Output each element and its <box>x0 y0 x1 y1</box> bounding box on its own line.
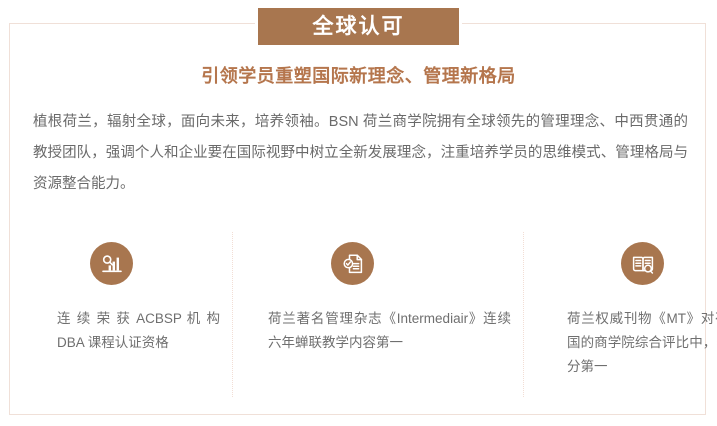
global-recognition-section: 全球认可 引领学员重塑国际新理念、管理新格局 植根荷兰，辐射全球，面向未来，培养… <box>0 0 717 426</box>
feature-item-magazine-ranking: 荷兰著名管理杂志《Intermediair》连续六年蝉联教学内容第一 <box>232 232 523 397</box>
book-search-icon <box>621 242 664 285</box>
feature-item-label: 荷兰著名管理杂志《Intermediair》连续六年蝉联教学内容第一 <box>268 307 511 355</box>
feature-item-label: 连 续 荣 获 ACBSP 机 构 DBA 课程认证资格 <box>57 307 220 355</box>
feature-item-mt-ranking: 荷兰权威刊物《MT》对荷兰全国的商学院综合评比中，获得总分第一 <box>523 232 717 397</box>
feature-list: 连 续 荣 获 ACBSP 机 构 DBA 课程认证资格 <box>10 232 706 397</box>
section-body-paragraph: 植根荷兰，辐射全球，面向未来，培养领袖。BSN 荷兰商学院拥有全球领先的管理理念… <box>33 107 688 200</box>
document-check-icon <box>331 242 374 285</box>
page-title: 全球认可 <box>313 16 405 37</box>
section-subtitle: 引领学员重塑国际新理念、管理新格局 <box>0 62 717 88</box>
chart-search-icon <box>90 242 133 285</box>
feature-item-accreditation: 连 续 荣 获 ACBSP 机 构 DBA 课程认证资格 <box>10 232 232 397</box>
feature-item-label: 荷兰权威刊物《MT》对荷兰全国的商学院综合评比中，获得总分第一 <box>567 307 717 379</box>
section-title-banner: 全球认可 <box>255 5 462 48</box>
